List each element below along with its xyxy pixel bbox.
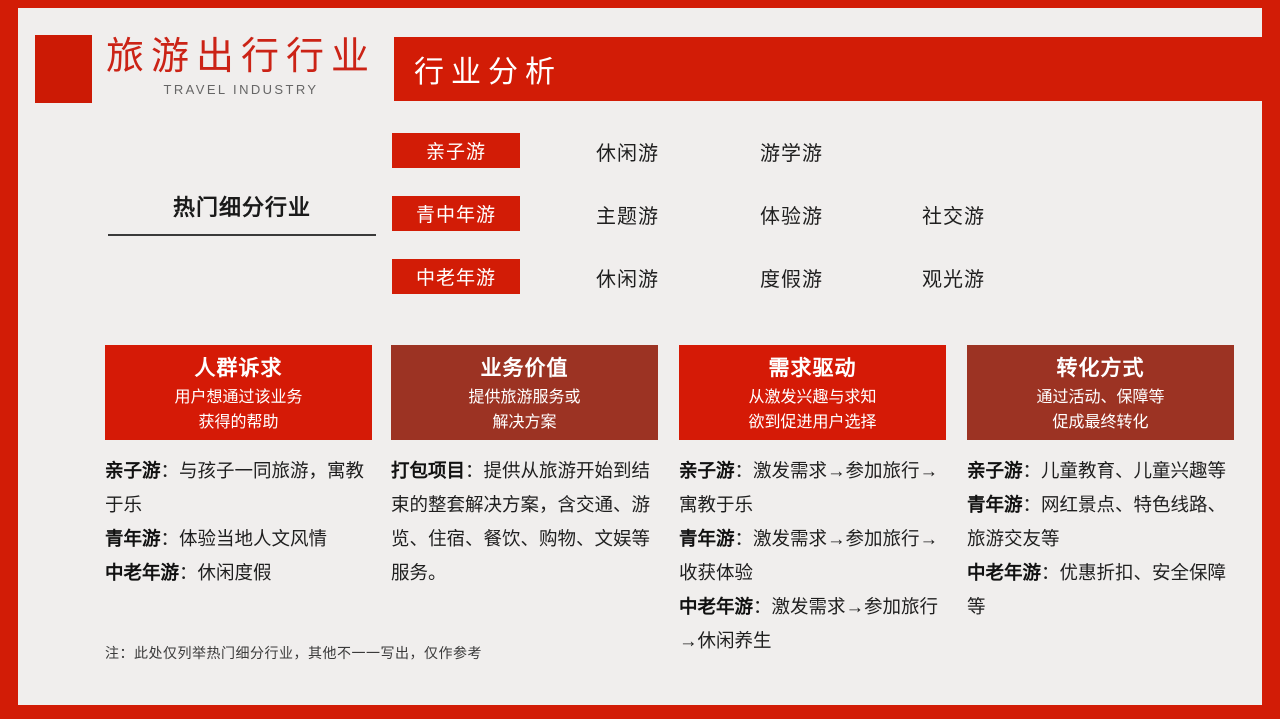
segment-item: 体验游 — [760, 199, 823, 229]
entry-separator: ： — [1023, 460, 1042, 481]
column-entry: 亲子游：与孩子一同旅游，寓教于乐 — [105, 454, 372, 522]
entry-term: 中老年游 — [105, 562, 179, 583]
detail-column: 需求驱动从激发兴趣与求知欲到促进用户选择亲子游：激发需求→参加旅行→寓教于乐青年… — [679, 345, 946, 658]
column-header: 业务价值提供旅游服务或解决方案 — [391, 345, 658, 440]
page-subtitle: TRAVEL INDUSTRY — [96, 82, 386, 98]
segment-label-group: 热门细分行业 — [108, 193, 376, 236]
entry-term: 青年游 — [967, 494, 1023, 515]
entry-separator: ： — [735, 460, 754, 481]
column-title: 业务价值 — [391, 354, 658, 383]
section-banner-title: 行业分析 — [414, 47, 562, 91]
entry-separator: ： — [161, 528, 180, 549]
detail-column: 转化方式通过活动、保障等促成最终转化亲子游：儿童教育、儿童兴趣等青年游：网红景点… — [967, 345, 1234, 624]
column-entry: 亲子游：儿童教育、儿童兴趣等 — [967, 454, 1234, 488]
column-body: 亲子游：与孩子一同旅游，寓教于乐青年游：体验当地人文风情中老年游：休闲度假 — [105, 454, 372, 590]
column-header: 人群诉求用户想通过该业务获得的帮助 — [105, 345, 372, 440]
entry-separator: ： — [179, 562, 198, 583]
segment-item: 度假游 — [760, 262, 823, 292]
segment-tag[interactable]: 青中年游 — [392, 196, 520, 231]
segment-label-rule — [108, 234, 376, 236]
entry-separator: ： — [1041, 562, 1060, 583]
segment-item: 社交游 — [922, 199, 985, 229]
entry-text: 儿童教育、儿童兴趣等 — [1041, 460, 1226, 481]
entry-text: 休闲度假 — [198, 562, 272, 583]
entry-term: 打包项目 — [391, 460, 465, 481]
column-entry: 亲子游：激发需求→参加旅行→寓教于乐 — [679, 454, 946, 522]
segment-tag[interactable]: 中老年游 — [392, 259, 520, 294]
column-entry: 中老年游：优惠折扣、安全保障等 — [967, 556, 1234, 624]
column-header: 转化方式通过活动、保障等促成最终转化 — [967, 345, 1234, 440]
column-title: 转化方式 — [967, 354, 1234, 383]
corner-accent-block — [35, 35, 92, 103]
segment-rows: 亲子游休闲游游学游青中年游主题游体验游社交游中老年游休闲游度假游观光游 — [392, 133, 1152, 322]
column-entry: 青年游：体验当地人文风情 — [105, 522, 372, 556]
entry-separator: ： — [161, 460, 180, 481]
entry-term: 青年游 — [679, 528, 735, 549]
entry-term: 亲子游 — [967, 460, 1023, 481]
segment-item: 休闲游 — [596, 262, 659, 292]
entry-separator: ： — [735, 528, 754, 549]
footnote: 注：此处仅列举热门细分行业，其他不一一写出，仅作参考 — [105, 642, 625, 664]
column-description: 从激发兴趣与求知欲到促进用户选择 — [679, 385, 946, 435]
column-description: 通过活动、保障等促成最终转化 — [967, 385, 1234, 435]
entry-term: 亲子游 — [105, 460, 161, 481]
column-title: 人群诉求 — [105, 354, 372, 383]
column-body: 亲子游：激发需求→参加旅行→寓教于乐青年游：激发需求→参加旅行→收获体验中老年游… — [679, 454, 946, 658]
segment-item: 主题游 — [596, 199, 659, 229]
entry-term: 中老年游 — [679, 596, 753, 617]
slide-root: 旅游出行行业 TRAVEL INDUSTRY 行业分析 热门细分行业 亲子游休闲… — [0, 0, 1280, 719]
column-body: 打包项目：提供从旅游开始到结束的整套解决方案，含交通、游览、住宿、餐饮、购物、文… — [391, 454, 658, 590]
column-title: 需求驱动 — [679, 354, 946, 383]
slide-canvas: 旅游出行行业 TRAVEL INDUSTRY 行业分析 热门细分行业 亲子游休闲… — [18, 8, 1262, 705]
entry-term: 亲子游 — [679, 460, 735, 481]
entry-separator: ： — [465, 460, 484, 481]
page-title: 旅游出行行业 — [96, 32, 386, 82]
column-entry: 青年游：网红景点、特色线路、旅游交友等 — [967, 488, 1234, 556]
segment-tag[interactable]: 亲子游 — [392, 133, 520, 168]
detail-column: 业务价值提供旅游服务或解决方案打包项目：提供从旅游开始到结束的整套解决方案，含交… — [391, 345, 658, 590]
column-header: 需求驱动从激发兴趣与求知欲到促进用户选择 — [679, 345, 946, 440]
column-description: 提供旅游服务或解决方案 — [391, 385, 658, 435]
title-group: 旅游出行行业 TRAVEL INDUSTRY — [96, 32, 386, 104]
entry-separator: ： — [1023, 494, 1042, 515]
entry-term: 青年游 — [105, 528, 161, 549]
segment-label: 热门细分行业 — [108, 193, 376, 223]
entry-text: 体验当地人文风情 — [179, 528, 327, 549]
segment-row: 亲子游休闲游游学游 — [392, 133, 1152, 196]
column-description: 用户想通过该业务获得的帮助 — [105, 385, 372, 435]
detail-column: 人群诉求用户想通过该业务获得的帮助亲子游：与孩子一同旅游，寓教于乐青年游：体验当… — [105, 345, 372, 590]
column-entry: 中老年游：激发需求→参加旅行→休闲养生 — [679, 590, 946, 658]
entry-separator: ： — [753, 596, 772, 617]
column-entry: 中老年游：休闲度假 — [105, 556, 372, 590]
segment-item: 游学游 — [760, 136, 823, 166]
column-entry: 打包项目：提供从旅游开始到结束的整套解决方案，含交通、游览、住宿、餐饮、购物、文… — [391, 454, 658, 590]
section-banner: 行业分析 — [394, 37, 1262, 101]
segment-item: 休闲游 — [596, 136, 659, 166]
column-entry: 青年游：激发需求→参加旅行→收获体验 — [679, 522, 946, 590]
segment-row: 青中年游主题游体验游社交游 — [392, 196, 1152, 259]
entry-term: 中老年游 — [967, 562, 1041, 583]
column-body: 亲子游：儿童教育、儿童兴趣等青年游：网红景点、特色线路、旅游交友等中老年游：优惠… — [967, 454, 1234, 624]
segment-row: 中老年游休闲游度假游观光游 — [392, 259, 1152, 322]
segment-item: 观光游 — [922, 262, 985, 292]
